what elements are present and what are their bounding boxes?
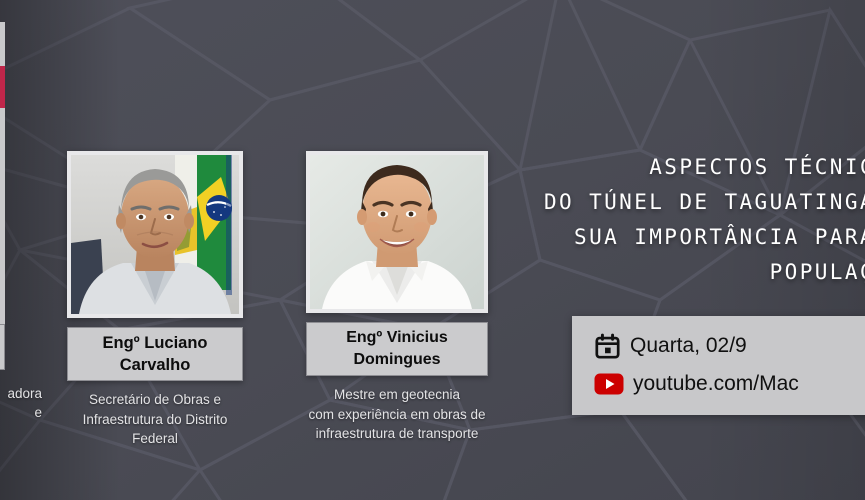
speaker-card-vinicius-domingues: Engº Vinicius Domingues Mestre em geotec… bbox=[306, 151, 488, 444]
portrait-illustration bbox=[310, 155, 484, 309]
event-info-panel: Quarta, 02/9 youtube.com/Mac bbox=[572, 316, 865, 415]
speaker-photo-frame bbox=[306, 151, 488, 313]
portrait-illustration bbox=[71, 155, 239, 314]
speaker-role: Secretário de Obras e Infraestrutura do … bbox=[67, 390, 243, 449]
webinar-banner: adora e bbox=[0, 0, 865, 500]
event-date-row: Quarta, 02/9 bbox=[594, 327, 865, 365]
speaker-name: Engº Luciano Carvalho bbox=[67, 327, 243, 381]
speaker-role: Mestre em geotecnia com experiência em o… bbox=[284, 385, 510, 444]
speaker-photo-frame bbox=[67, 151, 243, 318]
cut-off-speaker-role: adora e bbox=[0, 384, 42, 422]
speaker-photo-luciano-carvalho bbox=[71, 155, 239, 314]
youtube-icon bbox=[594, 373, 624, 395]
speaker-card-luciano-carvalho: Engº Luciano Carvalho Secretário de Obra… bbox=[67, 151, 243, 449]
calendar-icon bbox=[594, 333, 621, 360]
event-date-label: Quarta, 02/9 bbox=[630, 334, 747, 358]
cut-off-speaker-namebar bbox=[0, 324, 5, 370]
event-channel-label: youtube.com/Mac bbox=[633, 372, 799, 396]
cut-off-accent-stripe bbox=[0, 66, 5, 108]
event-channel-row[interactable]: youtube.com/Mac bbox=[594, 365, 865, 403]
event-headline: ASPECTOS TÉCNICOS DO TÚNEL DE TAGUATINGA… bbox=[520, 150, 865, 290]
speaker-name: Engº Vinicius Domingues bbox=[306, 322, 488, 376]
speaker-photo-vinicius-domingues bbox=[310, 155, 484, 309]
